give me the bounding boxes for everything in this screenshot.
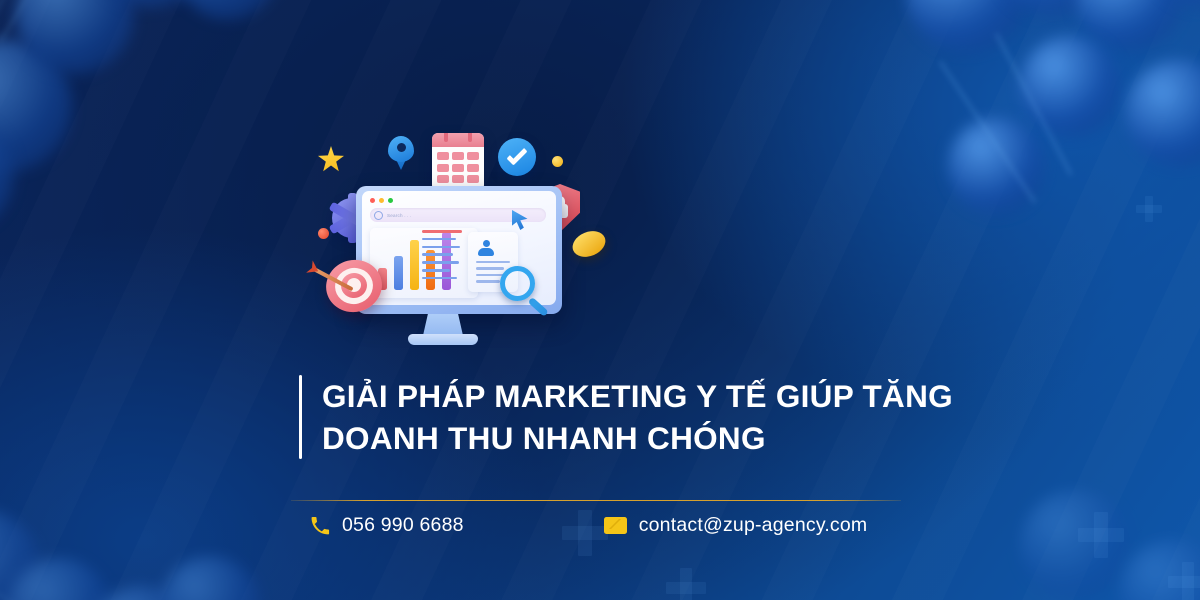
medical-cross-watermark — [1136, 196, 1162, 222]
marketing-analytics-illustration: Search . . . — [300, 128, 612, 350]
dna-decoration-top-right — [900, 0, 1200, 240]
medical-cross-watermark — [666, 568, 706, 600]
phone-icon — [310, 516, 330, 536]
dna-decoration-top-left — [0, 0, 260, 250]
coin-icon — [569, 227, 610, 262]
calendar-icon — [432, 133, 484, 191]
medical-cross-watermark — [1168, 562, 1200, 600]
search-placeholder: Search . . . — [387, 213, 412, 218]
headline-block: GIẢI PHÁP MARKETING Y TẾ GIÚP TĂNG DOANH… — [299, 375, 953, 459]
check-badge-icon — [498, 138, 536, 176]
target-arrow-icon — [326, 260, 382, 312]
location-pin-icon — [388, 136, 414, 170]
magnifier-icon — [500, 266, 554, 320]
dna-decoration-bottom-right — [980, 420, 1200, 600]
banner: Search . . . — [0, 0, 1200, 600]
gold-divider — [291, 500, 901, 501]
page-title: GIẢI PHÁP MARKETING Y TẾ GIÚP TĂNG DOANH… — [322, 375, 953, 459]
medical-cross-watermark — [1078, 512, 1124, 558]
mail-icon — [604, 517, 627, 534]
contact-bar: 056 990 6688 contact@zup-agency.com — [310, 514, 867, 537]
search-icon — [374, 211, 383, 220]
monitor-base — [408, 334, 478, 345]
star-icon — [318, 146, 344, 172]
browser-window-dots — [370, 198, 393, 203]
headline-accent-bar — [299, 375, 302, 459]
dna-decoration-bottom-left — [0, 390, 250, 600]
red-dot-icon — [318, 228, 329, 239]
profile-avatar-icon — [478, 240, 494, 256]
email-address: contact@zup-agency.com — [639, 514, 868, 537]
contact-phone[interactable]: 056 990 6688 — [310, 514, 464, 537]
stat-lines-list — [422, 230, 462, 284]
phone-number: 056 990 6688 — [342, 514, 464, 537]
yellow-dot-icon — [552, 156, 563, 167]
contact-email[interactable]: contact@zup-agency.com — [604, 514, 868, 537]
